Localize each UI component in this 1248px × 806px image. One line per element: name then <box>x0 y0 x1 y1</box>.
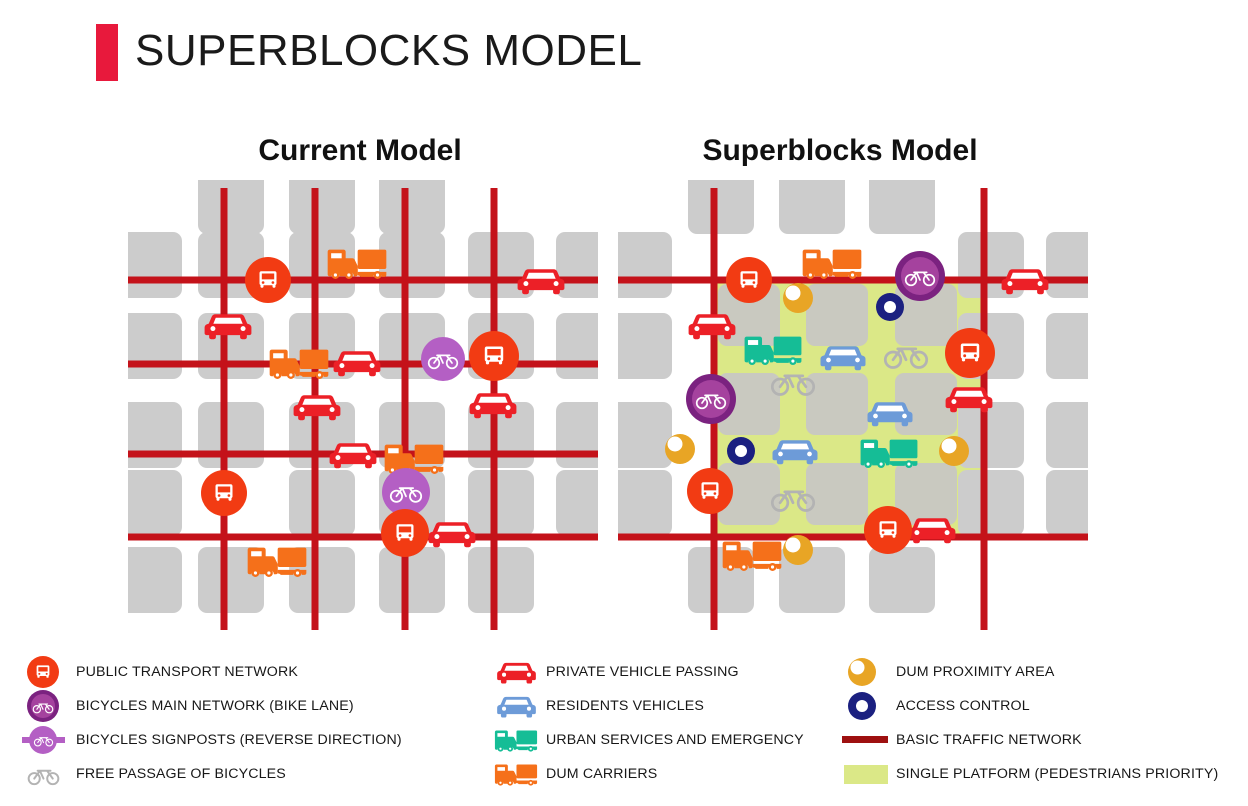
dum-carrier-truck-icon <box>803 250 862 279</box>
legend-label: ACCESS CONTROL <box>896 698 1030 714</box>
free-bicycle-icon <box>22 757 76 791</box>
diagram-heading-current: Current Model <box>180 134 540 168</box>
dum-proximity-icon <box>842 655 896 689</box>
legend-item-free-bicycle: FREE PASSAGE OF BICYCLES <box>22 757 492 791</box>
dum-carrier-truck-icon <box>492 757 546 791</box>
legend-item-dum-proximity: DUM PROXIMITY AREA <box>842 655 1248 689</box>
legend-label: PUBLIC TRANSPORT NETWORK <box>76 664 298 680</box>
basic-traffic-network-icon <box>842 723 896 757</box>
public-transport-marker-icon <box>381 509 429 557</box>
bicycle-main-network-marker-icon <box>895 251 945 301</box>
bicycle-signpost-marker-icon <box>22 723 76 757</box>
legend-label: FREE PASSAGE OF BICYCLES <box>76 766 286 782</box>
legend-label: SINGLE PLATFORM (PEDESTRIANS PRIORITY) <box>896 766 1218 782</box>
public-transport-marker-icon <box>726 257 772 303</box>
page-title: SUPERBLOCKS MODEL <box>135 20 642 82</box>
page-header: SUPERBLOCKS MODEL <box>96 24 956 82</box>
private-car-icon <box>429 522 476 547</box>
access-control-icon <box>876 293 904 321</box>
legend-label: BASIC TRAFFIC NETWORK <box>896 732 1082 748</box>
bicycle-signpost-marker-icon <box>421 337 465 381</box>
legend-item-public-transport: PUBLIC TRANSPORT NETWORK <box>22 655 492 689</box>
legend-item-private-vehicle: PRIVATE VEHICLE PASSING <box>492 655 842 689</box>
legend-column-1: PUBLIC TRANSPORT NETWORK BICYCLES MAIN N… <box>22 655 492 791</box>
city-blocks-current <box>128 180 598 613</box>
diagram-superblocks-model <box>618 180 1088 630</box>
legend-column-2: PRIVATE VEHICLE PASSING RESIDENTS VEHICL… <box>492 655 842 791</box>
legend-label: URBAN SERVICES AND EMERGENCY <box>546 732 804 748</box>
dum-proximity-icon <box>783 283 813 313</box>
dum-proximity-icon <box>939 436 969 466</box>
diagram-current-model <box>128 180 598 630</box>
resident-car-icon <box>492 689 546 723</box>
private-car-icon <box>334 351 381 376</box>
access-control-icon <box>842 689 896 723</box>
single-platform-swatch-icon <box>842 757 896 791</box>
public-transport-marker-icon <box>22 655 76 689</box>
legend-label: DUM PROXIMITY AREA <box>896 664 1055 680</box>
legend-label: PRIVATE VEHICLE PASSING <box>546 664 739 680</box>
legend-label: BICYCLES MAIN NETWORK (BIKE LANE) <box>76 698 354 714</box>
legend-item-urban-services: URBAN SERVICES AND EMERGENCY <box>492 723 842 757</box>
public-transport-marker-icon <box>945 328 995 378</box>
legend-label: BICYCLES SIGNPOSTS (REVERSE DIRECTION) <box>76 732 402 748</box>
public-transport-marker-icon <box>864 506 912 554</box>
private-car-icon <box>1002 269 1049 294</box>
urban-service-truck-icon <box>492 723 546 757</box>
public-transport-marker-icon <box>201 470 247 516</box>
legend-item-bicycle-main-network: BICYCLES MAIN NETWORK (BIKE LANE) <box>22 689 492 723</box>
dum-proximity-icon <box>783 535 813 565</box>
bicycle-main-network-marker-icon <box>22 689 76 723</box>
legend-item-bicycle-signpost: BICYCLES SIGNPOSTS (REVERSE DIRECTION) <box>22 723 492 757</box>
private-car-icon <box>492 655 546 689</box>
legend-label: DUM CARRIERS <box>546 766 657 782</box>
legend-item-single-platform: SINGLE PLATFORM (PEDESTRIANS PRIORITY) <box>842 757 1248 791</box>
legend-column-3: DUM PROXIMITY AREA ACCESS CONTROL BASIC … <box>842 655 1248 791</box>
public-transport-marker-icon <box>469 331 519 381</box>
legend-item-dum-carriers: DUM CARRIERS <box>492 757 842 791</box>
bicycle-main-network-marker-icon <box>686 374 736 424</box>
dum-carrier-truck-icon <box>248 548 307 577</box>
legend-label: RESIDENTS VEHICLES <box>546 698 704 714</box>
public-transport-marker-icon <box>245 257 291 303</box>
dum-proximity-icon <box>665 434 695 464</box>
bicycle-signpost-marker-icon <box>382 468 430 516</box>
platform-blocks <box>718 284 957 525</box>
diagram-heading-superblocks: Superblocks Model <box>660 134 1020 168</box>
legend-item-basic-traffic-network: BASIC TRAFFIC NETWORK <box>842 723 1248 757</box>
private-car-icon <box>518 269 565 294</box>
access-control-icon <box>727 437 755 465</box>
legend: PUBLIC TRANSPORT NETWORK BICYCLES MAIN N… <box>0 655 1248 800</box>
title-accent-bar <box>96 24 118 81</box>
legend-item-resident-vehicle: RESIDENTS VEHICLES <box>492 689 842 723</box>
public-transport-marker-icon <box>687 468 733 514</box>
dum-carrier-truck-icon <box>328 250 387 279</box>
legend-item-access-control: ACCESS CONTROL <box>842 689 1248 723</box>
